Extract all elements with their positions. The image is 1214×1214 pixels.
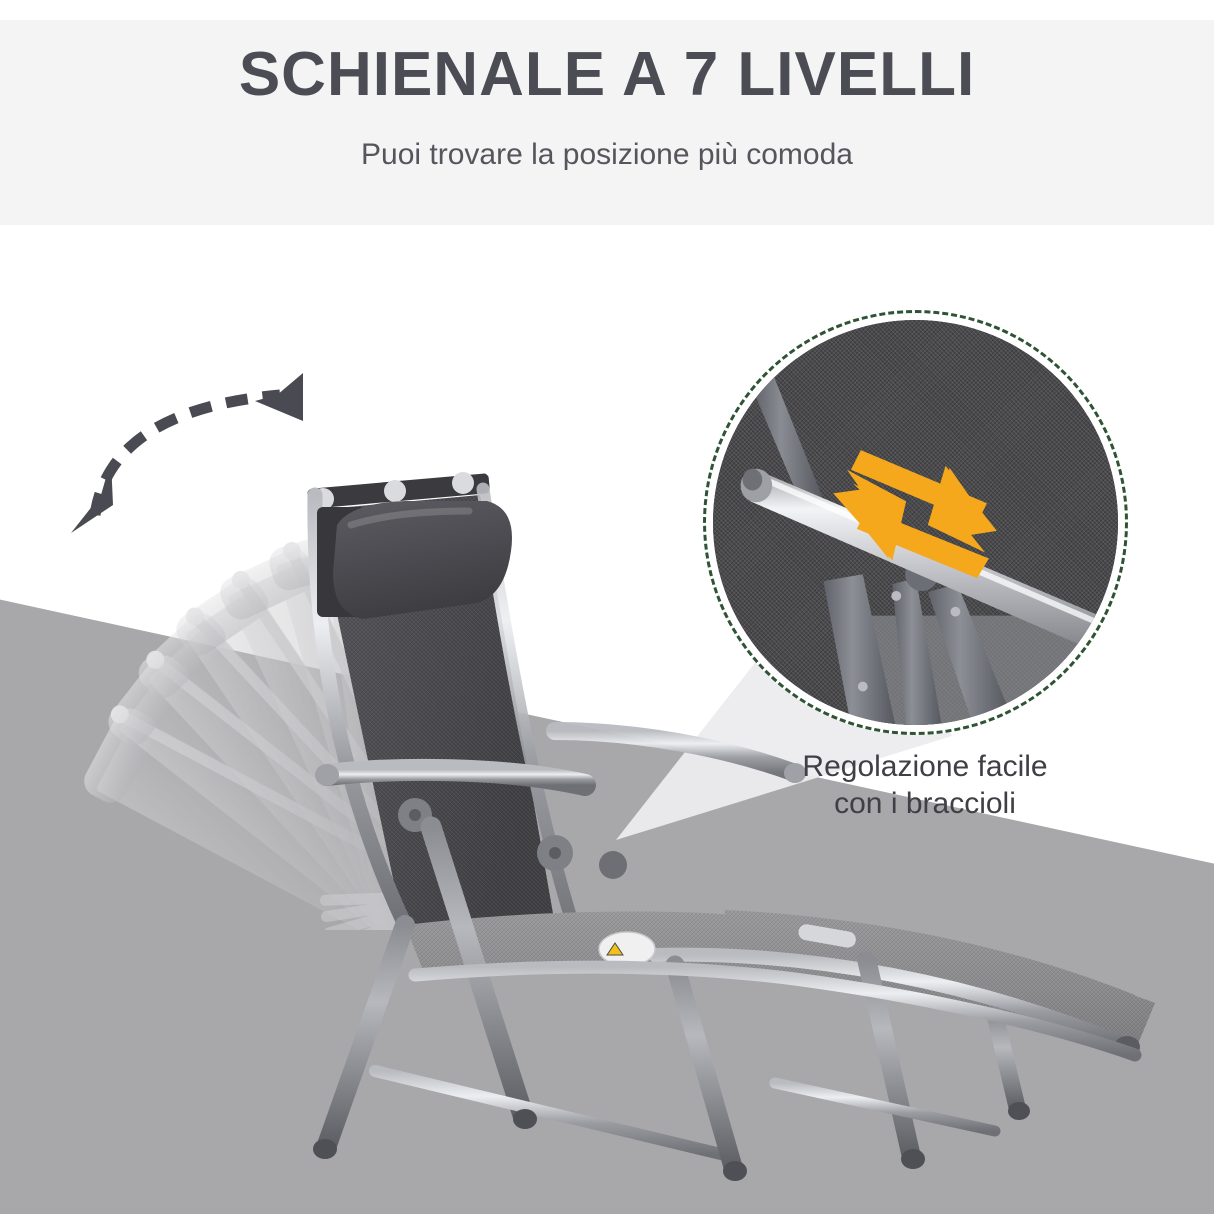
rear-leg-left xyxy=(327,925,405,1145)
backrest-glide-cap xyxy=(384,480,406,502)
callout-caption-line2: con i braccioli xyxy=(735,785,1115,822)
armrest-detail-callout xyxy=(703,310,1128,735)
page-subtitle: Puoi trovare la posizione più comoda xyxy=(0,140,1214,170)
backrest-glide-cap xyxy=(452,472,474,494)
callout-image xyxy=(713,320,1118,725)
mid-leg xyxy=(675,965,733,1167)
leg-cross-rail xyxy=(375,1071,725,1155)
product-feature-graphic: SCHIENALE A 7 LIVELLI Puoi trovare la po… xyxy=(0,0,1214,1214)
callout-caption-line1: Regolazione facile xyxy=(735,748,1115,785)
footrest-cross-rail xyxy=(775,1083,995,1131)
callout-detail-graphic xyxy=(713,320,1118,725)
callout-caption: Regolazione facile con i braccioli xyxy=(735,748,1115,822)
page-title: SCHIENALE A 7 LIVELLI xyxy=(0,44,1214,106)
footrest-leg-right xyxy=(995,1015,1017,1107)
